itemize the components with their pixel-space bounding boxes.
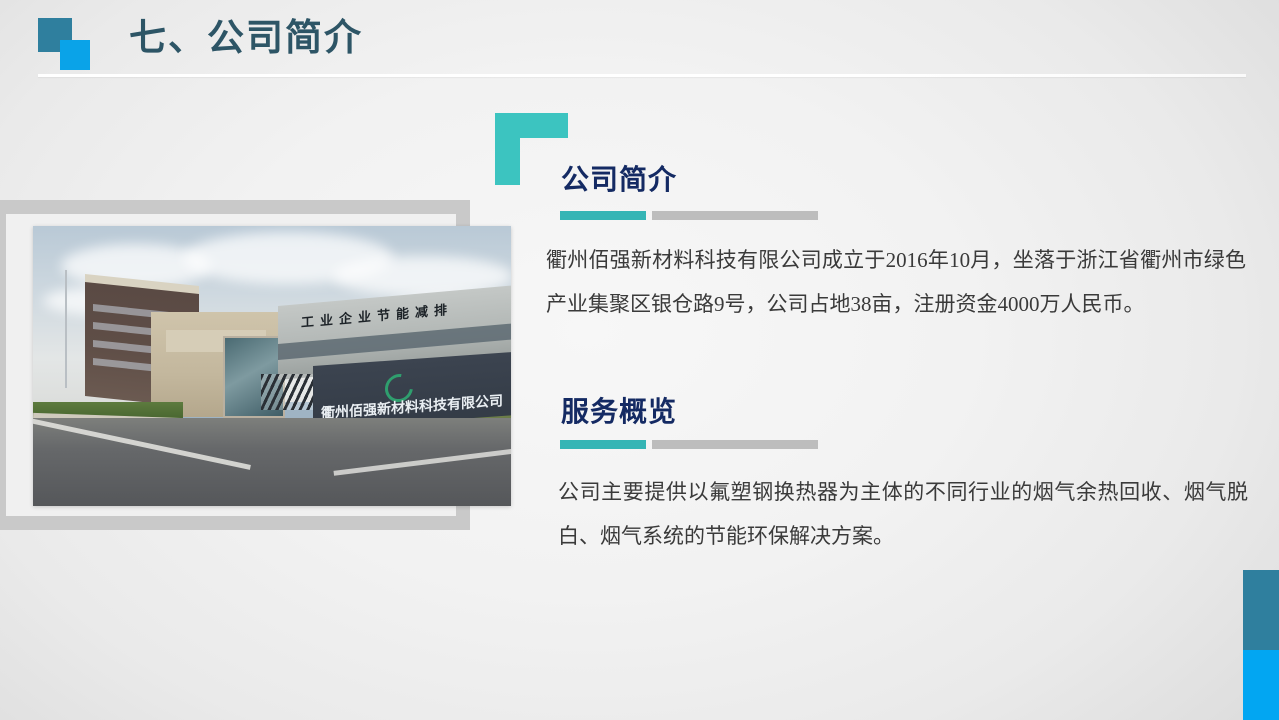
company-factory-photo: 工业企业节能减排 衢州佰强新材料科技有限公司 xyxy=(33,226,511,506)
divider-segment-gray xyxy=(652,440,818,449)
photo-light-pole xyxy=(65,270,67,388)
section-title-service-overview: 服务概览 xyxy=(561,390,677,430)
corner-bracket-icon xyxy=(495,113,568,185)
section-divider-company-profile xyxy=(560,211,818,220)
section-body-company-profile: 衢州佰强新材料科技有限公司成立于2016年10月，坐落于浙江省衢州市绿色产业集聚… xyxy=(546,238,1246,326)
photo-sliding-gate xyxy=(261,374,321,410)
page-title: 七、公司简介 xyxy=(129,17,363,60)
section-divider-service-overview xyxy=(560,440,818,449)
section-title-company-profile: 公司简介 xyxy=(561,158,677,198)
corner-accent-blue xyxy=(1243,650,1279,720)
slide-canvas: 七、公司简介 工业企业节能减排 衢州佰强新材料科技有限公司 xyxy=(0,0,1279,720)
corner-accent-dark xyxy=(1243,570,1279,650)
section-body-service-overview: 公司主要提供以氟塑钢换热器为主体的不同行业的烟气余热回收、烟气脱白、烟气系统的节… xyxy=(558,470,1248,558)
header-divider-rule xyxy=(38,74,1246,77)
divider-segment-teal xyxy=(560,211,646,220)
divider-segment-gray xyxy=(652,211,818,220)
header-square-blue-icon xyxy=(60,40,90,70)
divider-segment-teal xyxy=(560,440,646,449)
